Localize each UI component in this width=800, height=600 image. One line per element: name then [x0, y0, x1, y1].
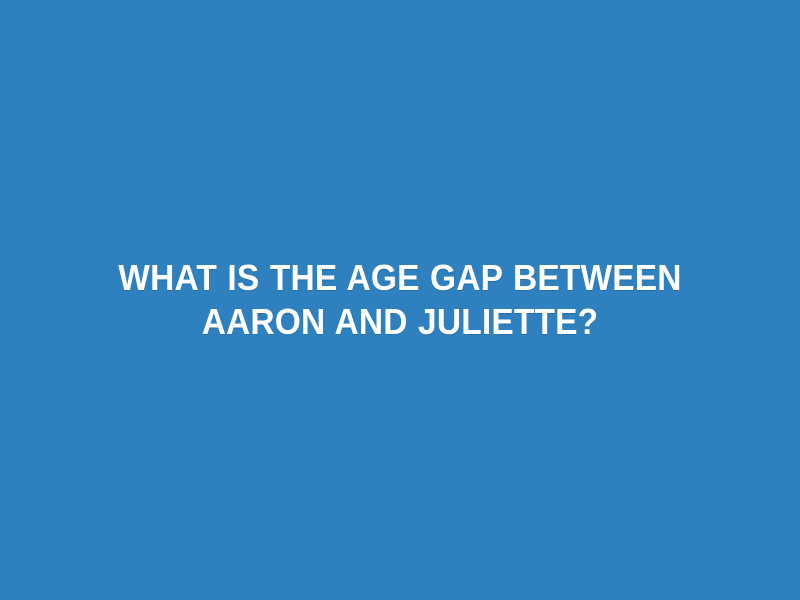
- page-title: WHAT IS THE AGE GAP BETWEEN AARON AND JU…: [84, 256, 716, 344]
- title-block: WHAT IS THE AGE GAP BETWEEN AARON AND JU…: [50, 256, 750, 344]
- title-card: WHAT IS THE AGE GAP BETWEEN AARON AND JU…: [0, 0, 800, 600]
